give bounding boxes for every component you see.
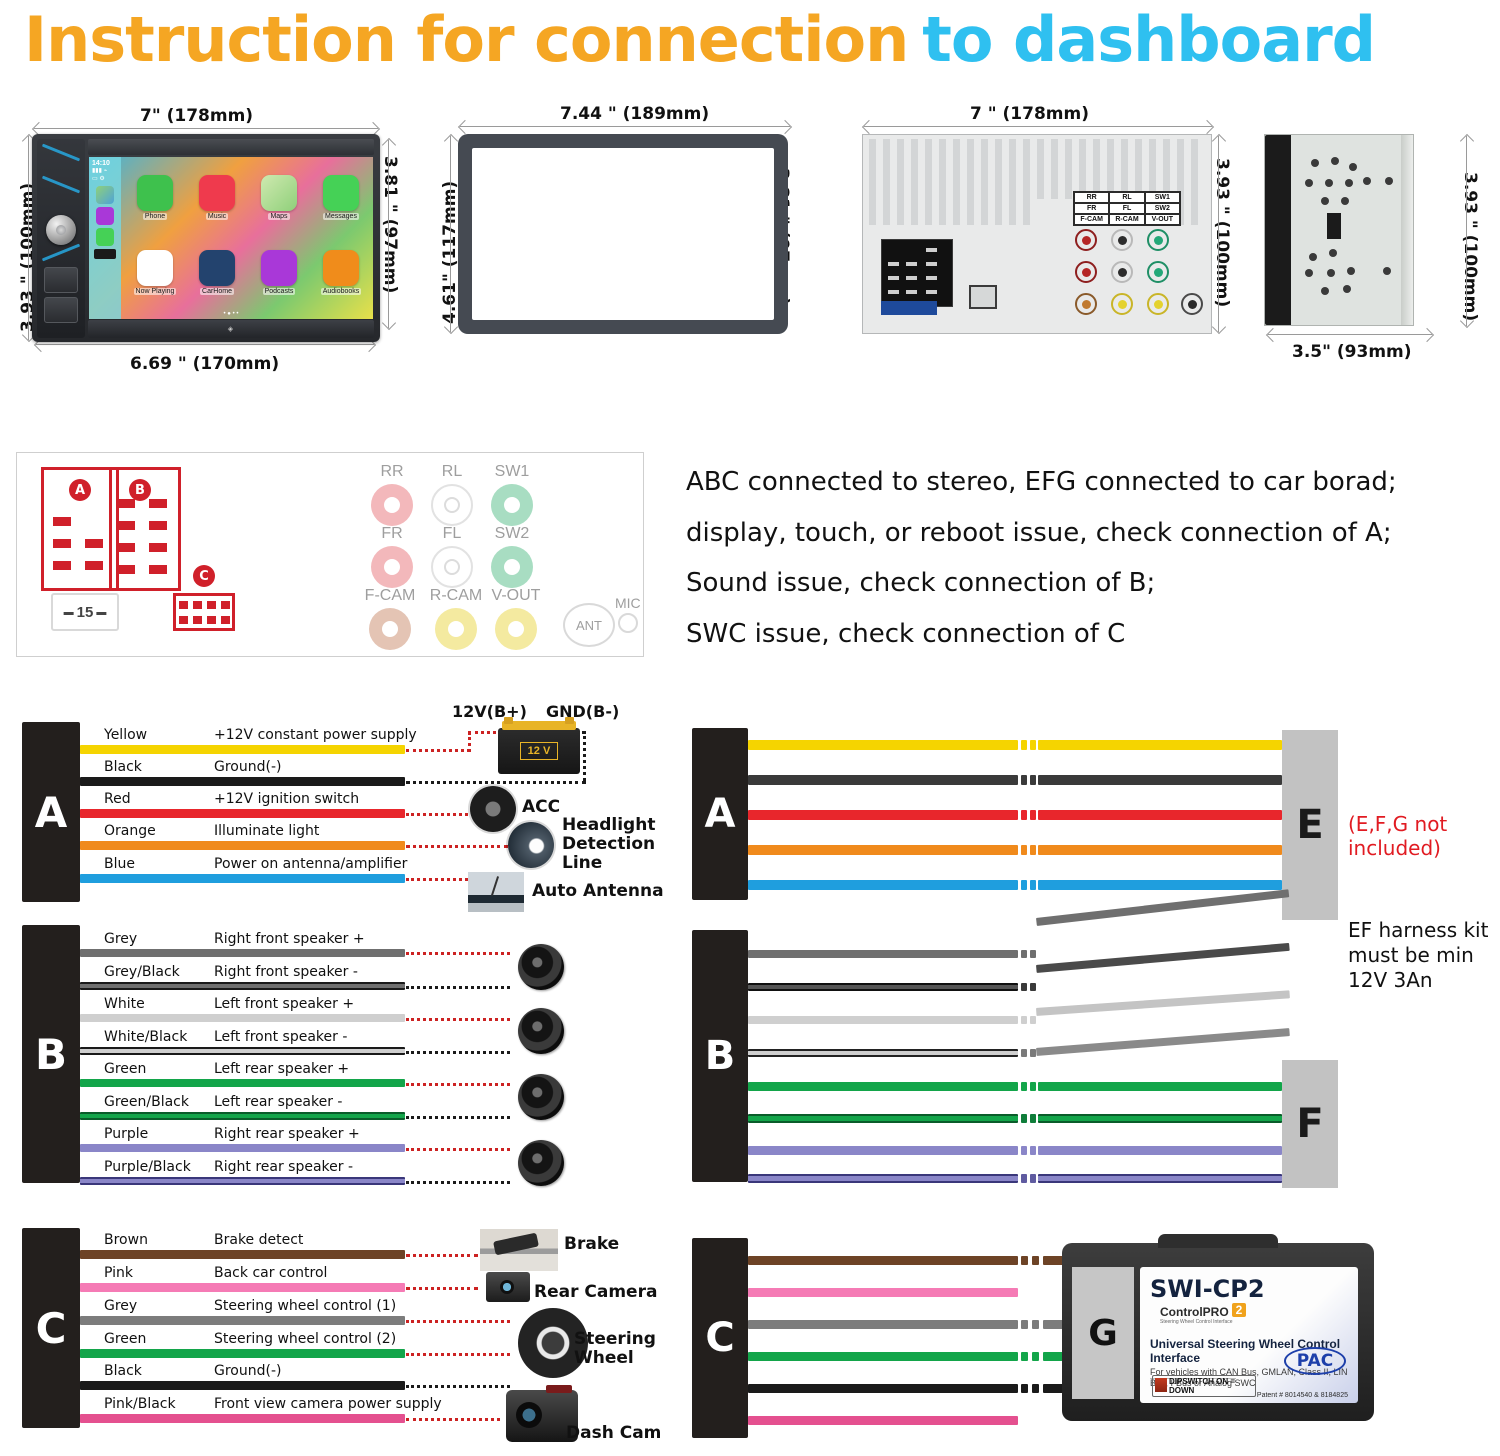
carplay-screen[interactable]: 14:10 ▮▮▮ ⌁▭ ⚙ Phone Music: [89, 157, 373, 319]
wire-yellow-right: [1038, 740, 1282, 750]
app-tile[interactable]: Music: [187, 161, 247, 234]
title-part-one: Instruction for connection: [24, 3, 908, 76]
connection-line: [406, 1018, 510, 1021]
port-label: F-CAM: [1074, 214, 1109, 225]
port-label: FL: [1109, 203, 1144, 214]
brand-badge: 2: [1232, 1303, 1247, 1317]
wire-color-label: White: [104, 996, 145, 1012]
page-dots: • ● • •: [89, 311, 373, 317]
connection-line: [406, 1385, 510, 1388]
wire-red-right: [1038, 810, 1282, 820]
jack-sw1[interactable]: SW1: [482, 463, 542, 526]
accent-streak: [42, 176, 80, 194]
wire-yellow: [80, 745, 405, 754]
rear-port-label-table: RR RL SW1 FR FL SW2 F-CAM R-CAM V-OUT: [1073, 191, 1181, 226]
connector-c-badge: C: [193, 565, 215, 587]
right-block-c: C: [692, 1238, 748, 1438]
connector-a-badge: A: [69, 479, 91, 501]
wire-color-label: Green: [104, 1061, 146, 1077]
rca-jack-fl[interactable]: [1111, 261, 1133, 283]
trim-bezel-figure: 7.44 " (189mm) 4.61" (117mm) 3.81 " (97m…: [420, 92, 840, 402]
dim-side-right: 3.93 " (100mm): [1460, 172, 1480, 321]
connection-line: [468, 731, 502, 734]
rear-camera-icon: [486, 1272, 530, 1302]
brake-pedal-icon: [480, 1229, 558, 1271]
pac-logo: PAC: [1284, 1347, 1346, 1375]
arrow-front-left: [28, 136, 29, 340]
arrow-rear-right: [1218, 136, 1219, 332]
sidebar-messages-icon[interactable]: [96, 228, 114, 246]
messages-icon: [323, 175, 359, 211]
side-rear-edge: [1401, 135, 1413, 325]
wire-green: [80, 1079, 405, 1087]
arrow-front-top: [34, 128, 378, 129]
rear-chassis-figure: 7 " (178mm) 3.93 " (100mm) RR: [840, 92, 1240, 402]
rca-jack-rcam[interactable]: [1111, 293, 1133, 315]
wire-purple-black-right: [1038, 1174, 1282, 1183]
brand-subline: Steering Wheel Control Interface: [1160, 1319, 1246, 1325]
table-row: FR FL SW2: [1074, 203, 1180, 214]
jack-fr[interactable]: FR: [362, 525, 422, 588]
wire-black-right: [1038, 775, 1282, 785]
wire-function-label: Illuminate light: [214, 823, 319, 839]
wire-color-label: Brown: [104, 1232, 148, 1248]
wire-grey-black: [80, 982, 405, 990]
accent-streak: [42, 144, 80, 162]
mic-label: MIC: [615, 595, 641, 611]
wire-orange: [80, 841, 405, 850]
wire-blue-right: [1038, 880, 1282, 890]
wire-black-right: [748, 775, 1018, 785]
module-label: SWI-CP2 ControlPRO2 Steering Wheel Contr…: [1140, 1267, 1358, 1403]
page-title: Instruction for connection to dashboard: [0, 0, 1500, 78]
app-label: Messages: [323, 213, 359, 220]
wire-function-label: Front view camera power supply: [214, 1396, 442, 1412]
wire-color-label: Grey: [104, 1298, 137, 1314]
wire-pink: [80, 1283, 405, 1292]
wire-function-label: Steering wheel control (1): [214, 1298, 396, 1314]
iso-connector-block: [881, 239, 953, 307]
connector-b-badge: B: [129, 479, 151, 501]
title-part-two: to dashboard: [922, 3, 1375, 76]
side-faceplate: [1265, 135, 1291, 325]
wire-green-black-right: [748, 1114, 1018, 1123]
connection-line: [406, 813, 468, 816]
wire-function-label: Power on antenna/amplifier: [214, 856, 407, 872]
wire-color-label: Green: [104, 1331, 146, 1347]
jack-vout[interactable]: V-OUT: [481, 587, 551, 650]
arrow-bezel-top: [460, 126, 790, 127]
rca-jack-rr[interactable]: [1075, 229, 1097, 251]
connection-line: [406, 986, 510, 989]
wire-function-label: +12V ignition switch: [214, 791, 359, 807]
wire-color-label: Blue: [104, 856, 135, 872]
port-label: RL: [1109, 192, 1144, 203]
connection-line: [406, 1116, 510, 1119]
rca-jack-sw2[interactable]: [1147, 261, 1169, 283]
carplay-sidebar: 14:10 ▮▮▮ ⌁▭ ⚙: [89, 157, 121, 319]
swi-cp2-module: G SWI-CP2 ControlPRO2 Steering Wheel Con…: [1062, 1243, 1374, 1421]
right-block-f: F: [1282, 1060, 1338, 1188]
auto-antenna-icon: [468, 872, 524, 912]
wire-black-ground: [80, 1381, 405, 1390]
wire-grey-swc1: [80, 1316, 405, 1325]
rca-jack-fcam[interactable]: [1075, 293, 1097, 315]
speaker-icon: [518, 1008, 564, 1054]
connection-line: [406, 1287, 478, 1290]
side-profile-figure: 3.93 " (100mm) 3.5" (93mm): [1240, 92, 1500, 402]
trim-bezel: [458, 134, 788, 334]
now-playing-icon: [137, 250, 173, 286]
connection-line: [406, 1083, 510, 1086]
app-tile[interactable]: Audiobooks: [311, 236, 371, 309]
music-icon: [199, 175, 235, 211]
connection-line: [406, 845, 508, 848]
wire-color-label: Grey: [104, 931, 137, 947]
fuse-holder: ▬ 15 ▬: [51, 593, 119, 631]
wire-brown-right: [748, 1256, 1018, 1265]
headlight-icon: [508, 822, 554, 868]
port-label: SW1: [1145, 192, 1180, 203]
device-label-rear-camera: Rear Camera: [534, 1283, 657, 1302]
module-mounting-tab: [1158, 1234, 1278, 1248]
device-label-antenna: Auto Antenna: [532, 882, 664, 901]
brand-line: ControlPRO: [1160, 1305, 1229, 1319]
wire-function-label: Left front speaker +: [214, 996, 354, 1012]
wire-function-label: Right front speaker -: [214, 964, 358, 980]
arrow-side-bottom: [1268, 334, 1432, 335]
dim-front-top: 7" (178mm): [140, 106, 253, 126]
wire-purple: [80, 1144, 405, 1152]
wire-color-label: Yellow: [104, 727, 147, 743]
wire-grey-swc-right: [748, 1320, 1018, 1329]
wire-function-label: Right rear speaker -: [214, 1159, 353, 1175]
mic-socket[interactable]: MIC: [615, 595, 641, 633]
unit-control-panel: [37, 139, 85, 338]
antenna-socket[interactable]: ANT: [563, 603, 615, 647]
jack-label: SW1: [482, 463, 542, 481]
connection-line: [406, 1254, 478, 1257]
speaker-icon: [518, 1074, 564, 1120]
connection-line: [406, 1148, 510, 1151]
jack-ring: [371, 546, 413, 588]
connection-line: [406, 878, 468, 881]
sidebar-maps-icon[interactable]: [96, 186, 114, 204]
blue-connector-strip: [881, 301, 937, 315]
jack-rr[interactable]: RR: [362, 463, 422, 526]
harness-b-block: B: [22, 925, 80, 1183]
arrow-front-right: [388, 140, 389, 328]
wire-color-label: Black: [104, 759, 142, 775]
wire-function-label: Left rear speaker -: [214, 1094, 343, 1110]
usb-slot-icon: [44, 267, 78, 293]
wire-function-label: Brake detect: [214, 1232, 303, 1248]
wire-function-label: +12V constant power supply: [214, 727, 417, 743]
wire-green-swc-right: [748, 1352, 1018, 1361]
module-model: SWI-CP2: [1150, 1275, 1265, 1303]
app-label: Audiobooks: [321, 288, 362, 295]
connection-line: [406, 749, 470, 752]
connector-panel-diagram: A B ▬ 15 ▬ C RR RL SW1 FR FL: [16, 452, 644, 657]
wire-white: [80, 1014, 405, 1022]
wire-function-label: Ground(-): [214, 759, 281, 775]
note-line: Sound issue, check connection of B;: [686, 569, 1486, 598]
not-included-note: (E,F,G not included): [1348, 812, 1498, 860]
jack-ring: [491, 484, 533, 526]
jack-sw2[interactable]: SW2: [482, 525, 542, 588]
wire-red-right: [748, 810, 1018, 820]
wire-blue: [80, 874, 405, 883]
head-unit-front-figure: 7" (178mm) 3.93 " (100mm) 3.81 " (97mm) …: [0, 92, 420, 402]
rca-jack-fr[interactable]: [1075, 261, 1097, 283]
patent-note: Patent # 8014540 & 8184825: [1257, 1392, 1348, 1399]
dimension-row: 7" (178mm) 3.93 " (100mm) 3.81 " (97mm) …: [0, 92, 1500, 402]
wire-function-label: Ground(-): [214, 1363, 281, 1379]
wire-color-label: Green/Black: [104, 1094, 189, 1110]
wire-pink-black: [80, 1414, 405, 1423]
wire-function-label: Back car control: [214, 1265, 327, 1281]
app-label: Maps: [268, 213, 289, 220]
dim-front-right: 3.81 " (97mm): [380, 156, 400, 293]
note-line: SWC issue, check connection of C: [686, 620, 1486, 649]
wire-black: [80, 777, 405, 786]
side-chassis: [1264, 134, 1414, 326]
wire-grey: [80, 949, 405, 957]
car-battery-icon: 12 V: [498, 728, 580, 774]
wire-green-swc2: [80, 1349, 405, 1358]
arrow-rear-top: [864, 126, 1212, 127]
wire-function-label: Left front speaker -: [214, 1029, 347, 1045]
wire-function-label: Right front speaker +: [214, 931, 365, 947]
harness-kit-note: EF harness kit must be min 12V 3An: [1348, 918, 1500, 993]
jack-ring: [431, 546, 473, 588]
app-tile[interactable]: Messages: [311, 161, 371, 234]
app-tile[interactable]: Podcasts: [249, 236, 309, 309]
wire-color-label: Pink: [104, 1265, 133, 1281]
jack-fcam[interactable]: F-CAM: [355, 587, 425, 650]
rca-jack-sw1[interactable]: [1147, 229, 1169, 251]
app-tile[interactable]: Phone: [125, 161, 185, 234]
note-line: ABC connected to stereo, EFG connected t…: [686, 468, 1486, 497]
jack-label: SW2: [482, 525, 542, 543]
wire-yellow-right: [748, 740, 1018, 750]
accent-streak: [42, 244, 80, 262]
device-label-headlight: Headlight Detection Line: [562, 816, 650, 873]
antenna-label: ANT: [576, 618, 602, 633]
status-icons: ▮▮▮ ⌁▭ ⚙: [92, 167, 121, 183]
port-label: SW2: [1145, 203, 1180, 214]
right-block-e: E: [1282, 730, 1338, 920]
app-tile[interactable]: CarHome: [187, 236, 247, 309]
wire-function-label: Left rear speaker +: [214, 1061, 349, 1077]
wire-orange-right: [748, 845, 1018, 855]
wire-color-label: Purple/Black: [104, 1159, 191, 1175]
fuse-rating: 15: [77, 604, 94, 621]
harness-c-block: C: [22, 1228, 80, 1428]
audiobooks-icon: [323, 250, 359, 286]
app-tile[interactable]: Now Playing: [125, 236, 185, 309]
sidebar-podcasts-icon[interactable]: [96, 207, 114, 225]
jack-label: RR: [362, 463, 422, 481]
connection-line: [406, 1353, 510, 1356]
jack-ring: [371, 484, 413, 526]
wire-orange-right: [1038, 845, 1282, 855]
podcasts-icon: [261, 250, 297, 286]
connection-line: [406, 1181, 510, 1184]
rear-chassis: RR RL SW1 FR FL SW2 F-CAM R-CAM V-OUT: [862, 134, 1212, 334]
app-tile[interactable]: Maps: [249, 161, 309, 234]
usb-port[interactable]: [969, 285, 997, 309]
jack-label: FL: [422, 525, 482, 543]
jack-label: RL: [422, 463, 482, 481]
arrow-front-bottom: [36, 344, 374, 345]
jack-label: V-OUT: [481, 587, 551, 605]
dim-side-bottom: 3.5" (93mm): [1292, 342, 1412, 362]
jack-ring: [369, 608, 411, 650]
jack-label: FR: [362, 525, 422, 543]
rca-jack-rl[interactable]: [1111, 229, 1133, 251]
battery-positive-label: 12V(B+): [452, 702, 527, 721]
wire-function-label: Right rear speaker +: [214, 1126, 360, 1142]
brand-mark: ◈: [228, 325, 234, 333]
battery-voltage-label: 12 V: [520, 742, 558, 760]
dim-rear-right: 3.93 " (100mm): [1212, 158, 1232, 307]
phone-icon: [137, 175, 173, 211]
device-label-dash-cam: Dash Cam: [566, 1424, 661, 1443]
jack-ring: [431, 484, 473, 526]
status-clock: 14:10: [92, 160, 121, 167]
note-line: display, touch, or reboot issue, check c…: [686, 519, 1486, 548]
connection-line: [406, 1051, 510, 1054]
wire-green-right: [1038, 1082, 1282, 1091]
right-block-a: A: [692, 728, 748, 900]
device-label-acc: ACC: [522, 798, 560, 817]
wire-grey-right: [748, 950, 1018, 958]
app-label: CarHome: [200, 288, 234, 295]
wire-green-black: [80, 1112, 405, 1120]
table-row: RR RL SW1: [1074, 192, 1180, 203]
device-label-brake: Brake: [564, 1235, 619, 1254]
connection-line: [406, 952, 510, 955]
app-label: Music: [206, 213, 228, 220]
speaker-icon: [518, 1140, 564, 1186]
carplay-app-grid: Phone Music Maps Messages: [125, 161, 371, 309]
wire-green-black-right: [1038, 1114, 1282, 1123]
head-unit-front: 14:10 ▮▮▮ ⌁▭ ⚙ Phone Music: [32, 134, 380, 342]
port-label: V-OUT: [1145, 214, 1180, 225]
maps-icon: [261, 175, 297, 211]
connection-line: [406, 781, 586, 784]
wire-green-right: [748, 1082, 1018, 1091]
jack-ring: [495, 608, 537, 650]
dipswitch-note: DIPSWITCH ON = DOWN: [1152, 1375, 1256, 1397]
app-label: Now Playing: [134, 288, 177, 295]
wire-pink-black-right: [748, 1416, 1018, 1425]
sd-card-slot-icon: [44, 297, 78, 323]
rca-jack-vout[interactable]: [1147, 293, 1169, 315]
right-block-b: B: [692, 930, 748, 1182]
sidebar-list-icon[interactable]: [94, 249, 116, 259]
port-label: R-CAM: [1109, 214, 1144, 225]
troubleshooting-notes: ABC connected to stereo, EFG connected t…: [686, 468, 1486, 670]
wire-white-black-right: [748, 1049, 1018, 1057]
wire-brown: [80, 1250, 405, 1259]
arrow-side-right: [1466, 136, 1467, 326]
wire-color-label: Red: [104, 791, 131, 807]
unit-top-strip: [88, 139, 374, 155]
jack-fl[interactable]: FL: [422, 525, 482, 588]
wire-color-label: Black: [104, 1363, 142, 1379]
dim-front-bottom: 6.69 " (170mm): [130, 354, 279, 374]
right-block-g: G: [1072, 1267, 1134, 1399]
wire-white-right: [748, 1016, 1018, 1024]
bezel-opening: [472, 148, 774, 320]
port-label: RR: [1074, 192, 1109, 203]
connection-line: [583, 731, 586, 781]
wire-color-label: White/Black: [104, 1029, 187, 1045]
wire-color-label: Pink/Black: [104, 1396, 176, 1412]
table-row: F-CAM R-CAM V-OUT: [1074, 214, 1180, 225]
wire-color-label: Purple: [104, 1126, 148, 1142]
connector-c-outline: [173, 593, 235, 631]
jack-ring: [435, 608, 477, 650]
jack-label: F-CAM: [355, 587, 425, 605]
ignition-acc-icon: [470, 786, 516, 832]
mic-hole: [618, 613, 638, 633]
wire-pink-right: [748, 1288, 1018, 1297]
wire-purple-black: [80, 1177, 405, 1185]
jack-ring: [491, 546, 533, 588]
wire-black-right-c: [748, 1384, 1018, 1393]
speaker-icon: [518, 944, 564, 990]
wire-blue-right: [748, 880, 1018, 890]
wire-red: [80, 809, 405, 818]
battery-negative-label: GND(B-): [546, 702, 619, 721]
volume-knob[interactable]: [46, 215, 76, 245]
jack-rl[interactable]: RL: [422, 463, 482, 526]
unit-bottom-strip: ◈: [88, 320, 374, 338]
arrow-bezel-left: [450, 136, 451, 332]
connection-line: [406, 1320, 510, 1323]
dim-bezel-top: 7.44 " (189mm): [560, 104, 709, 124]
connection-line: [406, 1418, 500, 1421]
dim-rear-top: 7 " (178mm): [970, 104, 1089, 124]
wire-color-label: Orange: [104, 823, 156, 839]
app-label: Podcasts: [263, 288, 296, 295]
app-label: Phone: [143, 213, 167, 220]
connection-line: [468, 732, 471, 752]
antenna-jack[interactable]: [1181, 293, 1203, 315]
device-label-steering-wheel: Steering Wheel: [574, 1330, 644, 1368]
wire-color-label: Grey/Black: [104, 964, 180, 980]
wire-purple-right: [748, 1146, 1018, 1155]
controlpro-brand: ControlPRO2 Steering Wheel Control Inter…: [1160, 1303, 1246, 1325]
wire-purple-right: [1038, 1146, 1282, 1155]
harness-a-block: A: [22, 722, 80, 902]
wire-purple-black-right: [748, 1174, 1018, 1183]
side-mounting-slot: [1327, 213, 1341, 239]
wire-grey-black-right: [748, 983, 1018, 991]
wire-function-label: Steering wheel control (2): [214, 1331, 396, 1347]
carhome-icon: [199, 250, 235, 286]
port-label: FR: [1074, 203, 1109, 214]
wire-white-black: [80, 1047, 405, 1055]
